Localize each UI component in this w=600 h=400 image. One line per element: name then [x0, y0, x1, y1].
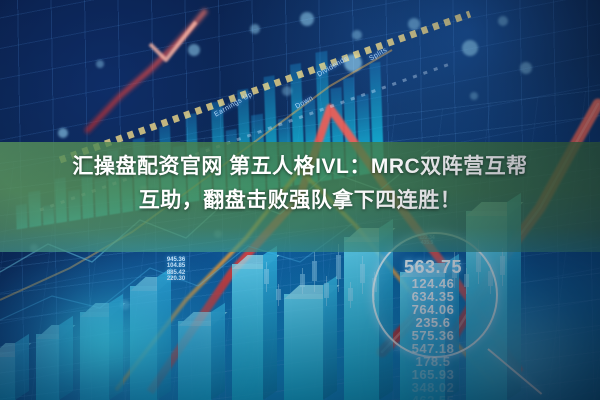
vignette-overlay: [0, 0, 600, 400]
banner-image: Earnings Up Down Dividends Splits 122.34…: [0, 0, 600, 400]
